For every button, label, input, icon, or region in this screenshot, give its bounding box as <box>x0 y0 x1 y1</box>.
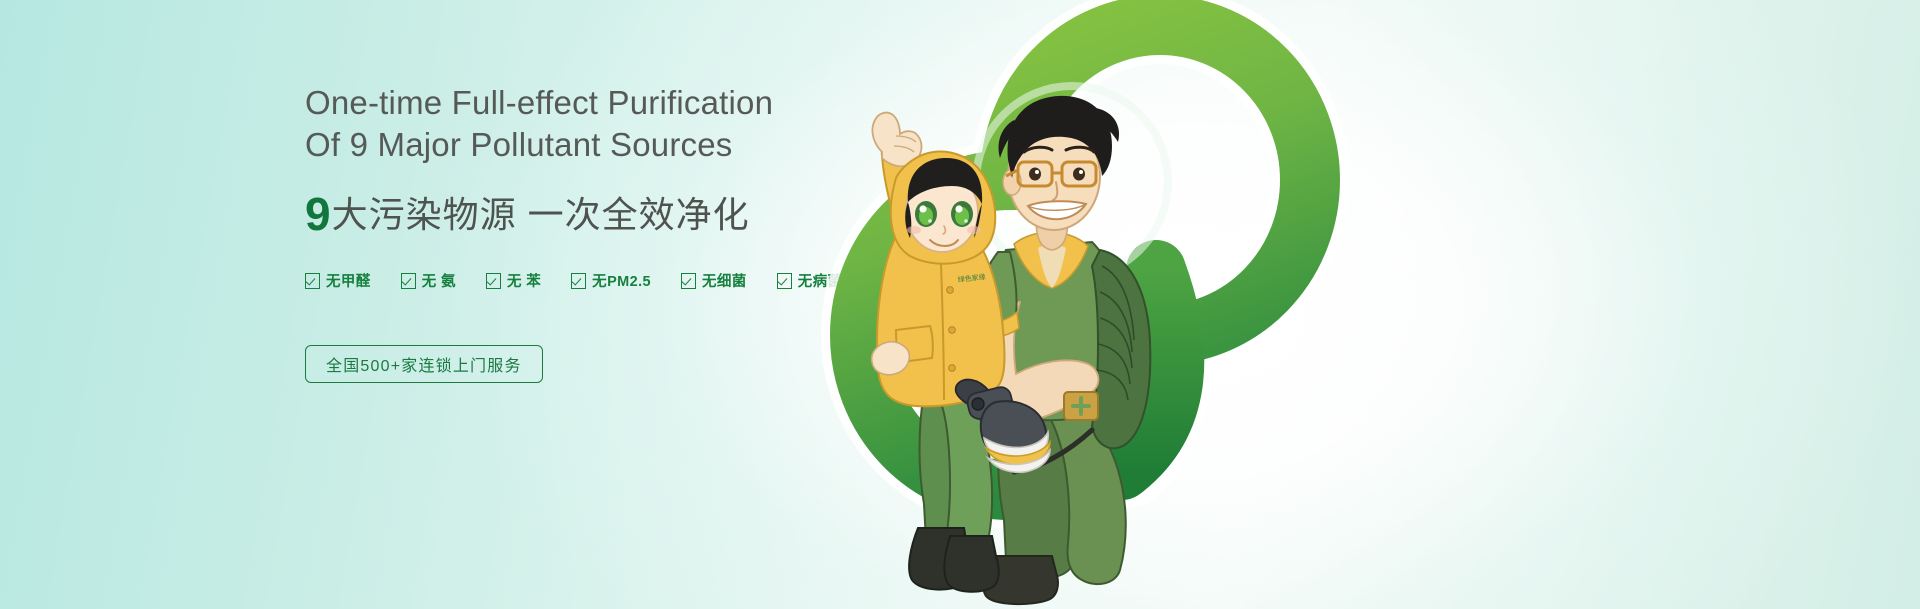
technician-and-child-illustration: 绿色家缘 <box>800 0 1400 609</box>
badge-no-bacteria: 无细菌 <box>681 270 747 291</box>
chinese-headline-text: 大污染物源 一次全效净化 <box>332 194 750 235</box>
nationwide-service-button[interactable]: 全国500+家连锁上门服务 <box>305 345 543 383</box>
check-box-icon <box>401 273 416 289</box>
badge-no-formaldehyde: 无甲醛 <box>305 270 371 291</box>
check-box-icon <box>777 273 792 289</box>
badge-label: 无甲醛 <box>326 270 371 291</box>
nationwide-service-button-label: 全国500+家连锁上门服务 <box>326 352 522 376</box>
child-figure: 绿色家缘 <box>872 113 1005 592</box>
badge-label: 无细菌 <box>702 270 747 291</box>
badge-label: 无 氨 <box>422 270 456 291</box>
check-box-icon <box>305 273 320 289</box>
badge-no-pm25: 无PM2.5 <box>571 270 651 291</box>
check-box-icon <box>486 273 501 289</box>
tool-pouch <box>1064 392 1098 420</box>
check-box-icon <box>571 273 586 289</box>
chinese-headline-number: 9 <box>305 188 331 240</box>
badge-label: 无 苯 <box>507 270 541 291</box>
badge-label: 无PM2.5 <box>592 270 651 291</box>
promo-banner: One-time Full-effect Purification Of 9 M… <box>0 0 1920 609</box>
badge-no-ammonia: 无 氨 <box>401 270 456 291</box>
check-box-icon <box>681 273 696 289</box>
man-head <box>999 96 1119 250</box>
badge-no-benzene: 无 苯 <box>486 270 541 291</box>
